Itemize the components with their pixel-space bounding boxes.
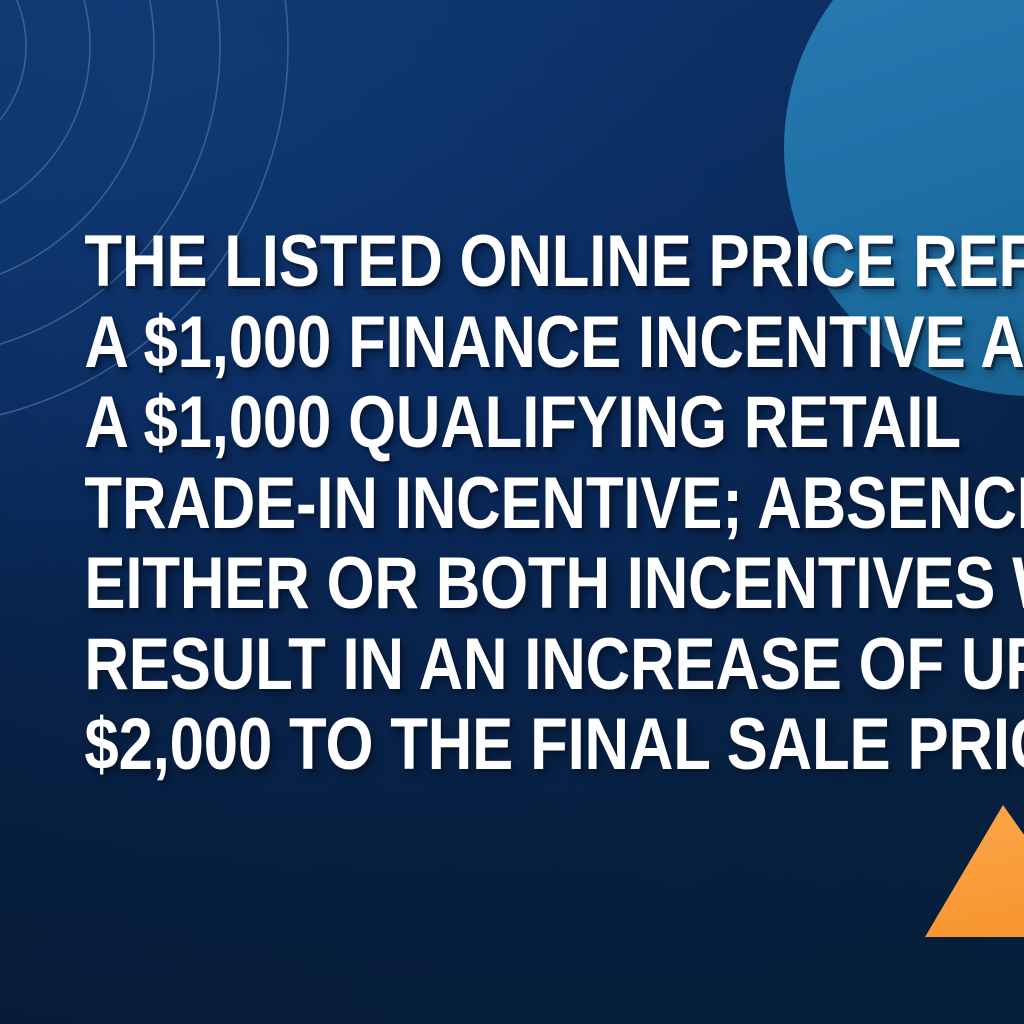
headline-line-4: TRADE-IN INCENTIVE; ABSENCE OF xyxy=(84,464,939,545)
headline-line-3: A $1,000 QUALIFYING RETAIL xyxy=(84,383,939,464)
headline-text-block: THE LISTED ONLINE PRICE REFLECTS A $1,00… xyxy=(0,222,1024,786)
disclaimer-graphic: THE LISTED ONLINE PRICE REFLECTS A $1,00… xyxy=(0,0,1024,1024)
headline-line-1: THE LISTED ONLINE PRICE REFLECTS xyxy=(84,222,939,303)
headline-line-5: EITHER OR BOTH INCENTIVES WILL xyxy=(84,544,939,625)
headline-line-7: $2,000 TO THE FINAL SALE PRICE. xyxy=(84,705,939,786)
headline-line-6: RESULT IN AN INCREASE OF UP TO xyxy=(84,625,939,706)
headline-line-2: A $1,000 FINANCE INCENTIVE AND xyxy=(84,303,939,384)
accent-triangle-shape xyxy=(925,805,1024,937)
